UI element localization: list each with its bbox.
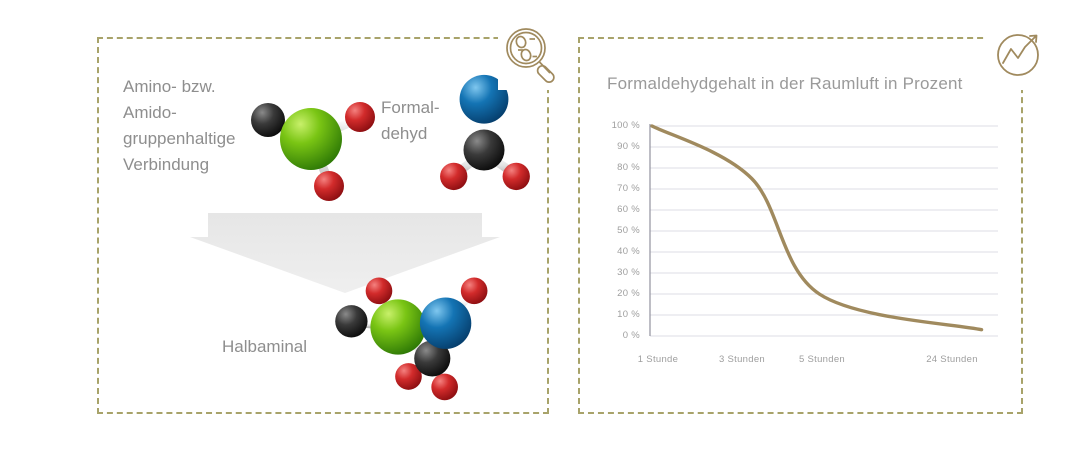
halbaminal-label: Halbaminal [222, 337, 307, 357]
y-tick-label: 30 % [617, 267, 640, 278]
trend-chart-circle-icon [986, 22, 1054, 90]
y-tick-label: 90 % [617, 141, 640, 152]
y-tick-label: 50 % [617, 225, 640, 236]
y-tick-label: 0 % [623, 330, 640, 341]
x-tick-label: 5 Stunden [799, 354, 845, 365]
line-chart-svg [648, 118, 1000, 350]
molecule-halbaminal [318, 268, 518, 406]
chart-plot-region: 100 %90 %80 %70 %60 %50 %40 %30 %20 %10 … [600, 118, 1000, 383]
magnifier-molecule-icon [498, 22, 566, 90]
x-tick-label: 24 Stunden [926, 354, 978, 365]
x-tick-label: 3 Stunden [719, 354, 765, 365]
y-tick-label: 60 % [617, 204, 640, 215]
molecule-amino-amido-compound [236, 82, 376, 202]
y-tick-label: 70 % [617, 183, 640, 194]
chart-title: Formaldehydgehalt in der Raumluft in Pro… [607, 74, 963, 94]
y-tick-label: 10 % [617, 309, 640, 320]
y-axis-tick-labels: 100 %90 %80 %70 %60 %50 %40 %30 %20 %10 … [600, 118, 640, 343]
y-tick-label: 20 % [617, 288, 640, 299]
y-tick-label: 80 % [617, 162, 640, 173]
x-tick-label: 1 Stunde [638, 354, 678, 365]
y-tick-label: 100 % [612, 120, 640, 131]
y-tick-label: 40 % [617, 246, 640, 257]
